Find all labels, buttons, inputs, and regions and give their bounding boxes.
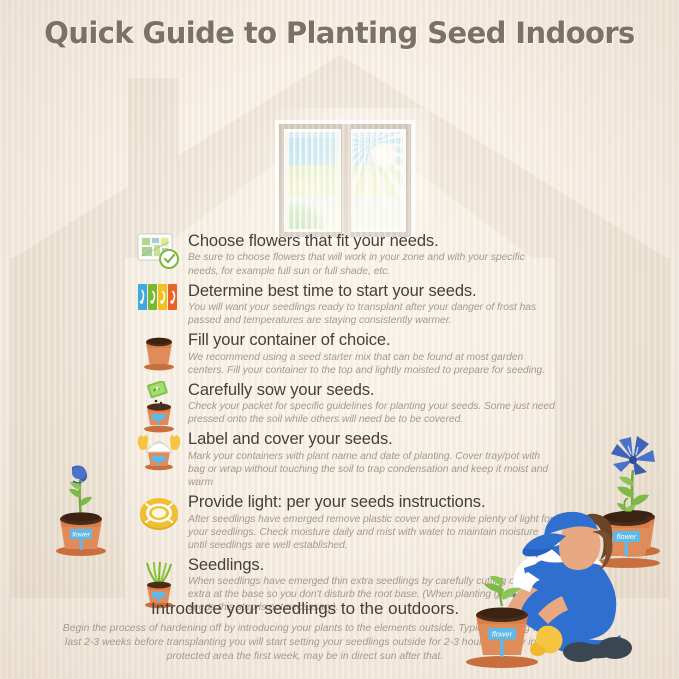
step-body: Mark your containers with plant name and… — [188, 450, 556, 489]
step-item-1: Choose flowers that fit your needs. Be s… — [136, 232, 556, 278]
step-item-3: Fill your container of choice. We recomm… — [136, 331, 556, 377]
step-body: Check your packet for specific guideline… — [188, 400, 556, 426]
step-heading: Label and cover your seeds. — [188, 430, 556, 448]
window-pane-right — [349, 129, 406, 232]
blinds-left — [287, 132, 338, 229]
step-item-2: Determine best time to start your seeds.… — [136, 282, 556, 328]
step-body: You will want your seedlings ready to tr… — [188, 301, 556, 327]
gloves-covered-pot-icon — [136, 430, 182, 476]
light-ring-icon — [136, 493, 182, 539]
step-body: We recommend using a seed starter mix th… — [188, 351, 556, 377]
seed-packet-pot-icon — [136, 381, 182, 427]
infographic-poster: Quick Guide to Planting Seed Indoors — [0, 0, 679, 679]
step-heading: Carefully sow your seeds. — [188, 381, 556, 399]
svg-text:flower: flower — [72, 532, 90, 539]
sunny-window — [279, 124, 411, 237]
window-mullion — [342, 124, 351, 237]
seedling-pot-icon — [136, 556, 182, 602]
step-heading: Determine best time to start your seeds. — [188, 282, 556, 300]
page-title: Quick Guide to Planting Seed Indoors — [0, 16, 679, 50]
step-item-5: Label and cover your seeds. Mark your co… — [136, 430, 556, 489]
step-heading: Fill your container of choice. — [188, 331, 556, 349]
empty-pot-icon — [136, 331, 182, 377]
blinds-right — [352, 132, 403, 229]
kneeling-gardener: flower — [440, 498, 679, 679]
garden-plan-icon — [136, 232, 182, 278]
four-seasons-icon — [136, 282, 182, 328]
svg-text:flower: flower — [617, 532, 637, 541]
blue-flower-pot-left: flower — [42, 420, 120, 560]
svg-text:flower: flower — [492, 629, 513, 638]
step-item-4: Carefully sow your seeds. Check your pac… — [136, 381, 556, 427]
step-body: Be sure to choose flowers that will work… — [188, 251, 556, 277]
window-pane-left — [284, 129, 341, 232]
step-heading: Choose flowers that fit your needs. — [188, 232, 556, 250]
